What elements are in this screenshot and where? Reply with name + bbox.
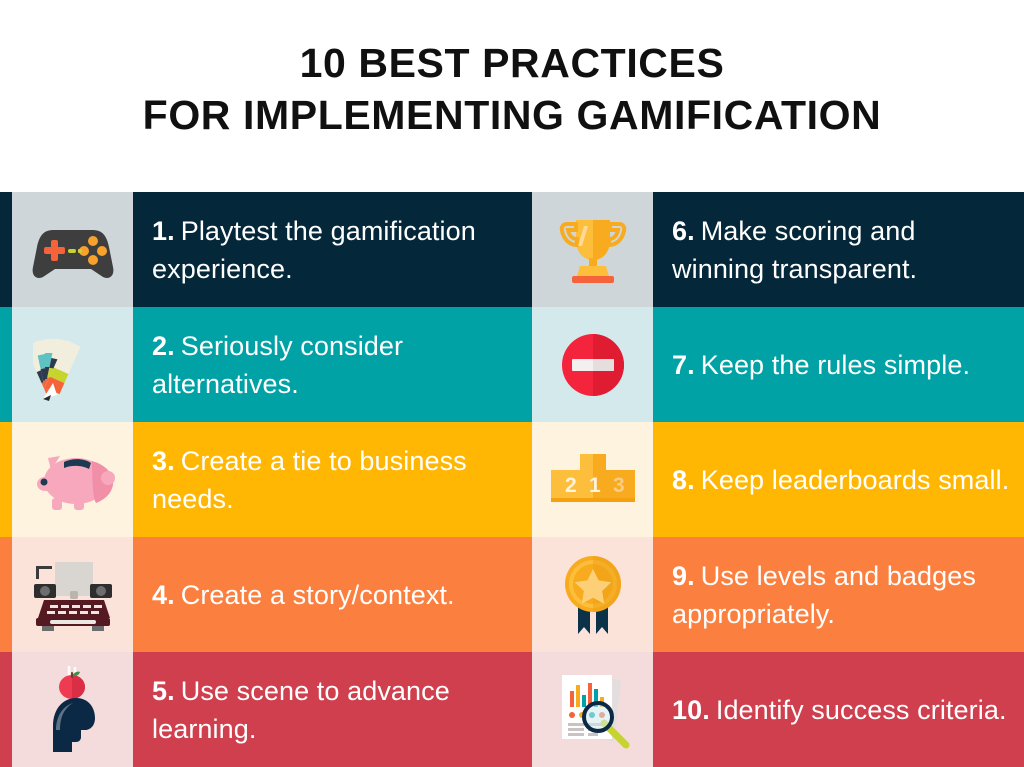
practice-item-7[interactable]: 7.Keep the rules simple.: [520, 307, 1024, 422]
practice-text-cell: 4.Create a story/context.: [133, 537, 520, 652]
piggy-bank-icon: [30, 448, 116, 512]
no-entry-sign-icon: [560, 332, 626, 398]
row-accent-strip: [520, 307, 532, 422]
trophy-icon: [558, 214, 628, 286]
practice-icon-cell: [532, 652, 653, 767]
practice-item-9[interactable]: 9.Use levels and badges appropriately.: [520, 537, 1024, 652]
page-title: 10 BEST PRACTICES FOR IMPLEMENTING GAMIF…: [0, 0, 1024, 192]
practice-item-10[interactable]: 10.Identify success criteria.: [520, 652, 1024, 767]
practice-number: 5.: [152, 676, 175, 706]
practice-number: 4.: [152, 580, 175, 610]
row-accent-strip: [0, 192, 12, 307]
practice-number: 10.: [672, 695, 710, 725]
head-with-apple-icon: [41, 664, 105, 756]
practice-icon-cell: [532, 307, 653, 422]
practice-row: 4.Create a story/context.: [0, 537, 1024, 652]
practice-item-6[interactable]: 6.Make scoring and winning transparent.: [520, 192, 1024, 307]
row-accent-strip: [0, 307, 12, 422]
practices-grid: 1.Playtest the gamification experience.: [0, 192, 1024, 767]
practice-text: Create a story/context.: [181, 580, 455, 610]
practice-text: Identify success criteria.: [716, 695, 1007, 725]
practice-icon-cell: [12, 537, 133, 652]
row-accent-strip: [520, 652, 532, 767]
practice-item-4[interactable]: 4.Create a story/context.: [0, 537, 520, 652]
practice-item-1[interactable]: 1.Playtest the gamification experience.: [0, 192, 520, 307]
practice-row: 3.Create a tie to business needs. 2: [0, 422, 1024, 537]
podium-icon: 2 1 3: [547, 452, 639, 508]
practice-number: 6.: [672, 216, 695, 246]
practice-icon-cell: [532, 192, 653, 307]
practice-text: Use levels and badges appropriately.: [672, 561, 976, 629]
typewriter-icon: [28, 558, 118, 632]
practice-item-3[interactable]: 3.Create a tie to business needs.: [0, 422, 520, 537]
row-accent-strip: [520, 192, 532, 307]
practice-text-cell: 8.Keep leaderboards small.: [653, 422, 1024, 537]
row-accent-strip: [0, 537, 12, 652]
practice-number: 2.: [152, 331, 175, 361]
practice-number: 9.: [672, 561, 695, 591]
title-line-2: FOR IMPLEMENTING GAMIFICATION: [143, 89, 882, 141]
gamepad-icon: [31, 220, 115, 280]
practice-text: Keep the rules simple.: [701, 350, 970, 380]
practice-text-cell: 9.Use levels and badges appropriately.: [653, 537, 1024, 652]
practice-number: 1.: [152, 216, 175, 246]
practice-item-8[interactable]: 2 1 3 8.Keep leaderboards small.: [520, 422, 1024, 537]
practice-number: 3.: [152, 446, 175, 476]
practice-item-5[interactable]: 5.Use scene to advance learning.: [0, 652, 520, 767]
svg-text:1: 1: [589, 474, 601, 497]
infographic-page: 10 BEST PRACTICES FOR IMPLEMENTING GAMIF…: [0, 0, 1024, 767]
practice-text: Keep leaderboards small.: [701, 465, 1010, 495]
practice-number: 8.: [672, 465, 695, 495]
practice-icon-cell: [12, 192, 133, 307]
practice-text-cell: 10.Identify success criteria.: [653, 652, 1024, 767]
practice-row: 5.Use scene to advance learning.: [0, 652, 1024, 767]
practice-text: Playtest the gamification experience.: [152, 216, 476, 284]
practice-text-cell: 1.Playtest the gamification experience.: [133, 192, 520, 307]
practice-icon-cell: [12, 422, 133, 537]
row-accent-strip: [520, 422, 532, 537]
practice-text: Create a tie to business needs.: [152, 446, 467, 514]
practice-text-cell: 3.Create a tie to business needs.: [133, 422, 520, 537]
practice-text-cell: 6.Make scoring and winning transparent.: [653, 192, 1024, 307]
practice-icon-cell: 2 1 3: [532, 422, 653, 537]
practice-row: 2.Seriously consider alternatives.: [0, 307, 1024, 422]
practice-row: 1.Playtest the gamification experience.: [0, 192, 1024, 307]
practice-icon-cell: [12, 307, 133, 422]
practice-icon-cell: [12, 652, 133, 767]
practice-text: Make scoring and winning transparent.: [672, 216, 917, 284]
practice-text: Seriously consider alternatives.: [152, 331, 403, 399]
medal-icon: [560, 554, 626, 636]
report-magnifier-icon: [552, 669, 634, 751]
row-accent-strip: [520, 537, 532, 652]
practice-text-cell: 2.Seriously consider alternatives.: [133, 307, 520, 422]
practice-icon-cell: [532, 537, 653, 652]
practice-text: Use scene to advance learning.: [152, 676, 450, 744]
title-line-1: 10 BEST PRACTICES: [300, 37, 725, 89]
practice-number: 7.: [672, 350, 695, 380]
svg-text:3: 3: [613, 474, 625, 497]
practice-item-2[interactable]: 2.Seriously consider alternatives.: [0, 307, 520, 422]
row-accent-strip: [0, 652, 12, 767]
color-swatch-fan-icon: [33, 329, 113, 401]
row-accent-strip: [0, 422, 12, 537]
practice-text-cell: 5.Use scene to advance learning.: [133, 652, 520, 767]
svg-text:2: 2: [565, 474, 577, 497]
practice-text-cell: 7.Keep the rules simple.: [653, 307, 1024, 422]
